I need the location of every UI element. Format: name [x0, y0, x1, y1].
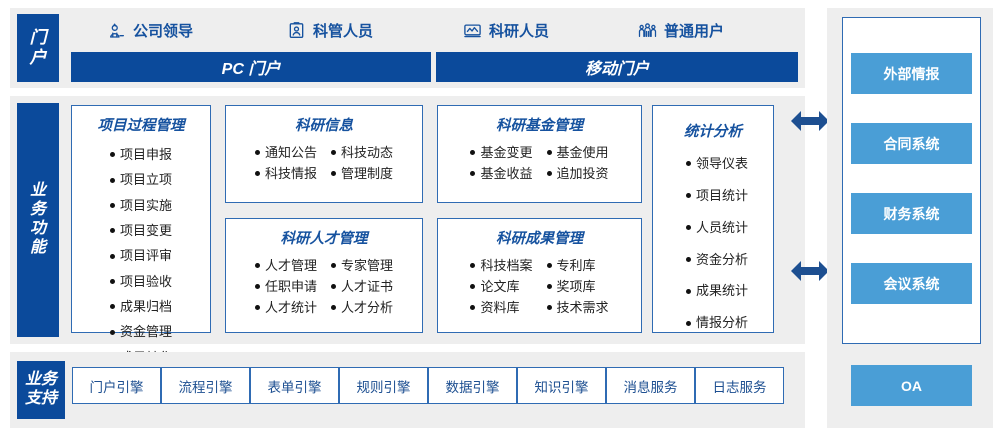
support-service-log[interactable]: 日志服务: [695, 367, 784, 404]
integration-arrow-top: [789, 106, 831, 141]
external-system-finance[interactable]: 财务系统: [851, 193, 972, 234]
portal-layer-label: 门 户: [17, 14, 59, 82]
module-bullet-item[interactable]: 科技档案: [470, 255, 532, 276]
support-engine-form[interactable]: 表单引擎: [250, 367, 339, 404]
module-bullet-item[interactable]: 追加投资: [547, 163, 609, 184]
module-bullet-item[interactable]: 科技情报: [255, 163, 317, 184]
module-bullet-column: 领导仪表 项目统计 人员统计 资金分析 成果统计 情报分析: [686, 148, 748, 339]
external-system-oa[interactable]: OA: [851, 365, 972, 406]
module-bullet-item[interactable]: 人才证书: [331, 276, 393, 297]
module-bullet-item[interactable]: 基金收益: [470, 163, 532, 184]
portal-layer-label-char-1: 门: [30, 28, 47, 48]
module-bullet-item[interactable]: 人才分析: [331, 297, 393, 318]
module-bullet-item[interactable]: 人才统计: [255, 297, 317, 318]
module-title: 科研信息: [232, 114, 416, 135]
module-bullet-item[interactable]: 人员统计: [686, 212, 748, 244]
business-support-label-line-1: 业务: [25, 371, 57, 390]
module-bullet-item[interactable]: 任职申请: [255, 276, 317, 297]
module-bullet-column: 基金使用 追加投资: [547, 142, 609, 184]
module-card-research-information[interactable]: 科研信息 通知公告 科技情报 科技动态 管理制度: [225, 105, 423, 203]
module-bullet-column: 科技档案 论文库 资料库: [470, 255, 532, 318]
support-engine-process[interactable]: 流程引擎: [161, 367, 250, 404]
business-function-label-char-1: 业: [30, 182, 46, 201]
module-title: 统计分析: [659, 120, 767, 141]
external-system-intelligence[interactable]: 外部情报: [851, 53, 972, 94]
leader-icon: [107, 21, 126, 40]
support-service-message[interactable]: 消息服务: [606, 367, 695, 404]
module-bullet-item[interactable]: 项目验收: [110, 269, 172, 294]
module-title: 科研成果管理: [444, 227, 635, 248]
module-bullet-item[interactable]: 人才管理: [255, 255, 317, 276]
module-bullet-column: 基金变更 基金收益: [470, 142, 532, 184]
module-card-project-process-management[interactable]: 项目过程管理 项目申报 项目立项 项目实施 项目变更 项目评审 项目验收 成果归…: [71, 105, 211, 333]
module-bullet-column: 科技动态 管理制度: [331, 142, 393, 184]
portal-role-company-leader[interactable]: 公司领导: [107, 20, 193, 41]
module-title: 科研基金管理: [444, 114, 635, 135]
module-card-research-achievement-management[interactable]: 科研成果管理 科技档案 论文库 资料库 专利库 奖项库 技术需求: [437, 218, 642, 333]
portal-bar-mobile[interactable]: 移动门户: [436, 52, 798, 82]
module-bullet-item[interactable]: 科技动态: [331, 142, 393, 163]
module-bullet-column: 人才管理 任职申请 人才统计: [255, 255, 317, 318]
portal-role-label: 科管人员: [313, 20, 373, 41]
module-bullet-item[interactable]: 奖项库: [547, 276, 609, 297]
module-bullet-item[interactable]: 专家管理: [331, 255, 393, 276]
module-bullet-item[interactable]: 成果归档: [110, 294, 172, 319]
business-support-label: 业务 支持: [17, 361, 65, 419]
business-function-label-char-4: 能: [30, 239, 46, 258]
external-system-contract[interactable]: 合同系统: [851, 123, 972, 164]
module-title: 项目过程管理: [78, 114, 204, 135]
module-bullet-column: 专家管理 人才证书 人才分析: [331, 255, 393, 318]
module-card-statistical-analysis[interactable]: 统计分析 领导仪表 项目统计 人员统计 资金分析 成果统计 情报分析: [652, 105, 774, 333]
badge-person-icon: [287, 21, 306, 40]
module-bullet-item[interactable]: 项目申报: [110, 142, 172, 167]
module-title: 科研人才管理: [232, 227, 416, 248]
monitor-chart-icon: [463, 21, 482, 40]
module-bullet-column: 项目申报 项目立项 项目实施 项目变更 项目评审 项目验收 成果归档 资金管理 …: [110, 142, 172, 370]
business-function-label-char-3: 功: [30, 220, 46, 239]
module-bullet-item[interactable]: 通知公告: [255, 142, 317, 163]
module-bullet-item[interactable]: 基金变更: [470, 142, 532, 163]
module-bullet-item[interactable]: 管理制度: [331, 163, 393, 184]
support-engine-knowledge[interactable]: 知识引擎: [517, 367, 606, 404]
module-bullet-item[interactable]: 专利库: [547, 255, 609, 276]
module-bullet-item[interactable]: 资金分析: [686, 244, 748, 276]
module-card-research-fund-management[interactable]: 科研基金管理 基金变更 基金收益 基金使用 追加投资: [437, 105, 642, 203]
module-bullet-item[interactable]: 资金管理: [110, 319, 172, 344]
support-engine-data[interactable]: 数据引擎: [428, 367, 517, 404]
module-bullet-item[interactable]: 成果统计: [686, 275, 748, 307]
module-bullet-column: 专利库 奖项库 技术需求: [547, 255, 609, 318]
module-bullet-item[interactable]: 项目评审: [110, 243, 172, 268]
user-group-icon: [638, 21, 657, 40]
architecture-diagram: 门 户 公司领导 科管人员: [0, 0, 1000, 436]
module-bullet-item[interactable]: 项目变更: [110, 218, 172, 243]
external-system-meeting[interactable]: 会议系统: [851, 263, 972, 304]
module-bullet-item[interactable]: 项目统计: [686, 180, 748, 212]
portal-role-label: 科研人员: [489, 20, 549, 41]
support-engine-portal[interactable]: 门户引擎: [72, 367, 161, 404]
business-function-label: 业 务 功 能: [17, 103, 59, 337]
module-bullet-item[interactable]: 论文库: [470, 276, 532, 297]
portal-role-research-admin[interactable]: 科管人员: [287, 20, 373, 41]
portal-role-label: 普通用户: [664, 20, 724, 41]
portal-role-researcher[interactable]: 科研人员: [463, 20, 549, 41]
portal-role-general-user[interactable]: 普通用户: [638, 20, 724, 41]
support-engine-rule[interactable]: 规则引擎: [339, 367, 428, 404]
module-bullet-item[interactable]: 基金使用: [547, 142, 609, 163]
integration-arrow-bottom: [789, 256, 831, 291]
portal-role-label: 公司领导: [133, 20, 193, 41]
module-bullet-item[interactable]: 项目立项: [110, 167, 172, 192]
module-bullet-item[interactable]: 技术需求: [547, 297, 609, 318]
portal-bar-pc[interactable]: PC 门户: [71, 52, 431, 82]
portal-layer-label-char-2: 户: [30, 48, 47, 68]
module-card-research-talent-management[interactable]: 科研人才管理 人才管理 任职申请 人才统计 专家管理 人才证书 人才分析: [225, 218, 423, 333]
module-bullet-item[interactable]: 项目实施: [110, 193, 172, 218]
business-function-label-char-2: 务: [30, 201, 46, 220]
module-bullet-item[interactable]: 资料库: [470, 297, 532, 318]
module-bullet-item[interactable]: 领导仪表: [686, 148, 748, 180]
business-support-label-line-2: 支持: [25, 390, 57, 409]
module-bullet-item[interactable]: 情报分析: [686, 307, 748, 339]
module-bullet-column: 通知公告 科技情报: [255, 142, 317, 184]
